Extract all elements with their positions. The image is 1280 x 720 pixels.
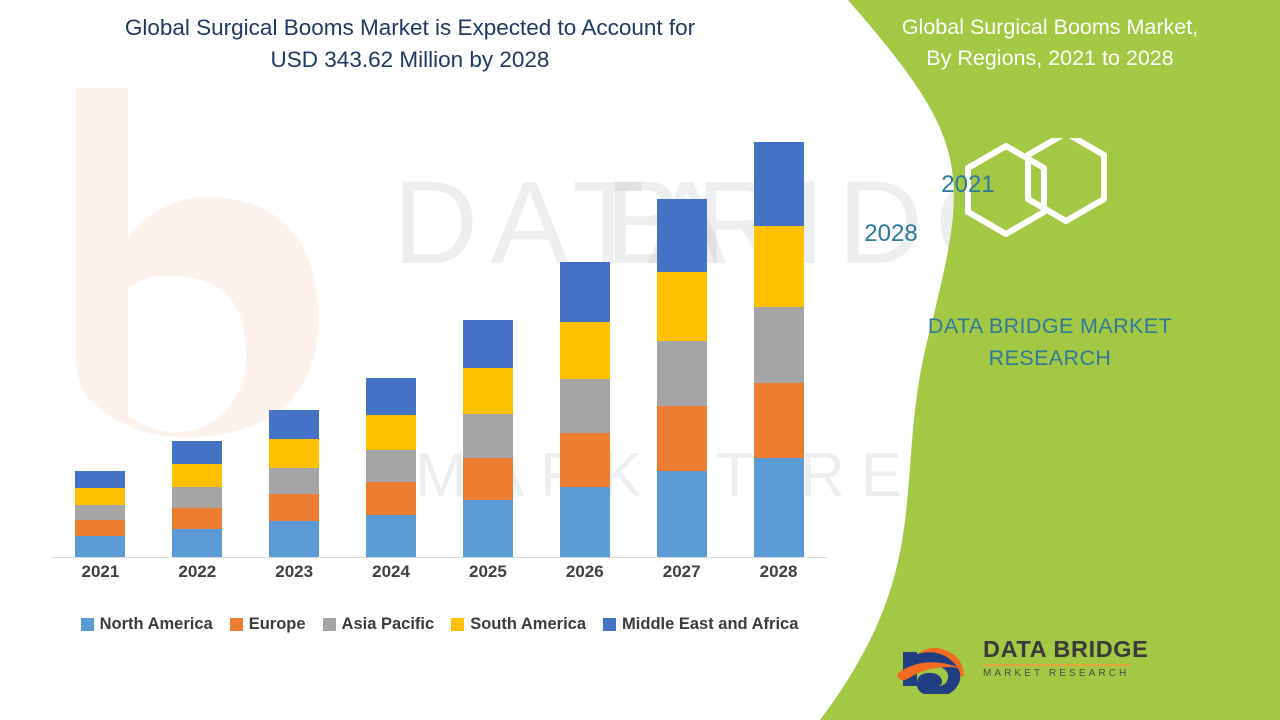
- bar-segment: [560, 487, 610, 557]
- data-bridge-logo-icon: [895, 630, 973, 694]
- panel-brand-text: DATA BRIDGE MARKET RESEARCH: [845, 310, 1255, 374]
- x-axis-label: 2022: [149, 562, 245, 582]
- bar-segment: [754, 383, 804, 458]
- x-axis-line: [52, 557, 827, 558]
- bar-segment: [657, 272, 707, 341]
- legend-item[interactable]: Middle East and Africa: [603, 615, 798, 634]
- bar-segment: [657, 341, 707, 406]
- x-axis-label: 2026: [537, 562, 633, 582]
- bar-segment: [657, 471, 707, 557]
- bar-group: [52, 110, 827, 557]
- panel-title-line1: Global Surgical Booms Market,: [850, 12, 1250, 43]
- legend-swatch-icon: [451, 618, 464, 631]
- logo-divider: [983, 664, 1131, 666]
- bar-segment: [754, 458, 804, 557]
- logo-name-main: DATA BRIDGE: [983, 636, 1133, 662]
- bar-stack: [75, 471, 125, 557]
- bar-segment: [754, 142, 804, 226]
- bar-segment: [366, 450, 416, 482]
- bar-stack: [463, 320, 513, 557]
- logo-name-sub: MARKET RESEARCH: [983, 668, 1133, 680]
- chart-plot-area: [52, 110, 827, 558]
- bar-segment: [269, 494, 319, 521]
- bar-segment: [75, 505, 125, 521]
- hexagon-label-2028: 2028: [848, 220, 934, 248]
- bar-column: [246, 110, 342, 557]
- bar-segment: [269, 521, 319, 557]
- bar-segment: [75, 536, 125, 557]
- panel-title: Global Surgical Booms Market, By Regions…: [850, 12, 1250, 74]
- bar-column: [731, 110, 827, 557]
- bar-segment: [560, 433, 610, 487]
- bar-segment: [463, 320, 513, 368]
- bar-segment: [463, 500, 513, 557]
- legend-label: North America: [100, 615, 213, 634]
- legend-swatch-icon: [603, 618, 616, 631]
- bar-segment: [463, 368, 513, 414]
- chart-pane: Global Surgical Booms Market is Expected…: [0, 0, 880, 720]
- bar-column: [52, 110, 148, 557]
- bar-column: [149, 110, 245, 557]
- bar-segment: [269, 439, 319, 468]
- bar-segment: [172, 487, 222, 508]
- chart-title-line2: USD 343.62 Million by 2028: [30, 44, 790, 76]
- x-axis-label: 2025: [440, 562, 536, 582]
- x-axis-label: 2027: [634, 562, 730, 582]
- bar-segment: [172, 464, 222, 486]
- bar-stack: [269, 410, 319, 557]
- bar-segment: [366, 482, 416, 514]
- bar-segment: [172, 441, 222, 464]
- x-axis-label: 2021: [52, 562, 148, 582]
- bar-column: [343, 110, 439, 557]
- legend-label: South America: [470, 615, 586, 634]
- chart-title-line1: Global Surgical Booms Market is Expected…: [30, 12, 790, 44]
- x-axis-label: 2028: [731, 562, 827, 582]
- bar-segment: [754, 226, 804, 306]
- panel-brand-line2: RESEARCH: [845, 342, 1255, 374]
- bar-segment: [754, 307, 804, 383]
- bar-segment: [560, 322, 610, 379]
- panel-brand-line1: DATA BRIDGE MARKET: [845, 310, 1255, 342]
- legend-item[interactable]: Asia Pacific: [323, 615, 435, 634]
- legend-item[interactable]: North America: [81, 615, 213, 634]
- bar-segment: [560, 379, 610, 433]
- bar-column: [440, 110, 536, 557]
- chart-legend: North AmericaEuropeAsia PacificSouth Ame…: [52, 615, 827, 634]
- bar-stack: [366, 378, 416, 557]
- hexagon-label-2021: 2021: [928, 171, 1008, 199]
- legend-label: Europe: [249, 615, 306, 634]
- x-axis-labels: 20212022202320242025202620272028: [52, 562, 827, 582]
- bar-stack: [172, 441, 222, 557]
- panel-title-line2: By Regions, 2021 to 2028: [850, 43, 1250, 74]
- chart-title: Global Surgical Booms Market is Expected…: [30, 12, 790, 76]
- bar-segment: [75, 488, 125, 505]
- legend-swatch-icon: [323, 618, 336, 631]
- hexagon-2021-shape: [1028, 138, 1104, 221]
- bar-segment: [657, 199, 707, 272]
- x-axis-label: 2024: [343, 562, 439, 582]
- bar-segment: [269, 468, 319, 495]
- infographic-root: DATA BRIDGE MARKET RESEARCH Global Surgi…: [0, 0, 1280, 720]
- bar-segment: [463, 414, 513, 458]
- bar-segment: [366, 415, 416, 450]
- bar-segment: [657, 406, 707, 471]
- bar-column: [537, 110, 633, 557]
- bar-column: [634, 110, 730, 557]
- bar-segment: [463, 458, 513, 500]
- bar-segment: [269, 410, 319, 439]
- bar-segment: [75, 520, 125, 536]
- legend-item[interactable]: South America: [451, 615, 586, 634]
- bar-segment: [172, 529, 222, 557]
- bar-stack: [657, 199, 707, 557]
- legend-swatch-icon: [81, 618, 94, 631]
- bar-stack: [560, 262, 610, 557]
- bar-segment: [172, 508, 222, 529]
- company-logo: DATA BRIDGE MARKET RESEARCH: [895, 628, 1125, 698]
- logo-wordmark: DATA BRIDGE MARKET RESEARCH: [983, 636, 1133, 680]
- legend-swatch-icon: [230, 618, 243, 631]
- x-axis-label: 2023: [246, 562, 342, 582]
- hexagon-badges: [920, 138, 1140, 290]
- bar-stack: [754, 142, 804, 557]
- bar-segment: [366, 515, 416, 557]
- legend-label: Middle East and Africa: [622, 615, 798, 634]
- legend-label: Asia Pacific: [342, 615, 435, 634]
- bar-segment: [366, 378, 416, 415]
- bar-segment: [75, 471, 125, 488]
- legend-item[interactable]: Europe: [230, 615, 306, 634]
- bar-segment: [560, 262, 610, 322]
